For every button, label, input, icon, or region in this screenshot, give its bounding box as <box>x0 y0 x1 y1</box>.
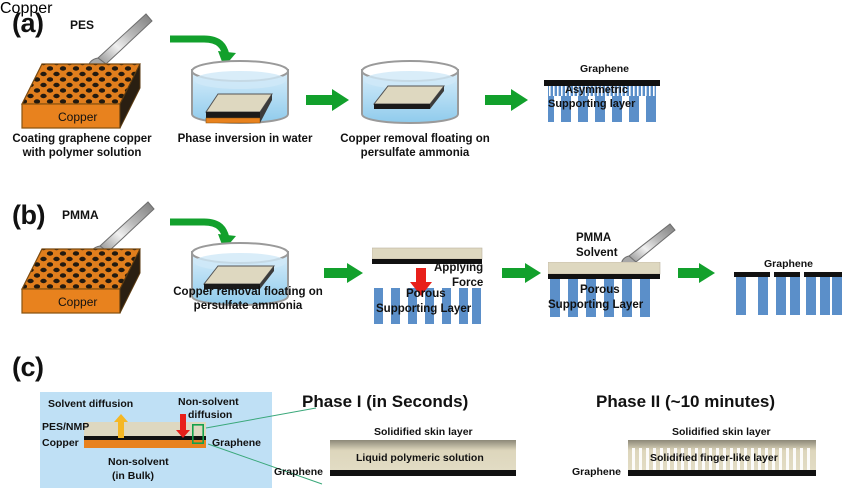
phase1-title: Phase I (in Seconds) <box>302 392 468 412</box>
phase2-title: Phase II (~10 minutes) <box>596 392 775 412</box>
graphene-label-b: Graphene <box>764 258 813 270</box>
red-arrow-icon <box>176 414 190 443</box>
green-arrow-icon <box>324 262 364 289</box>
caption-a-2: Phase inversion in water <box>170 132 320 146</box>
svg-text:Copper: Copper <box>58 295 97 309</box>
solvent-diffusion-label: Solvent diffusion <box>48 398 133 410</box>
porous-supporting-layer-step <box>548 262 662 331</box>
porous-label-b1-1: Porous <box>406 288 446 300</box>
phase2-body-label: Solidified finger-like layer <box>650 452 778 464</box>
green-arrow-icon <box>306 88 350 117</box>
graphene-label-a: Graphene <box>580 63 629 75</box>
nonsolvent-diffusion-label-1: Non-solvent <box>178 396 239 408</box>
caption-a-1: Coating graphene copper with polymer sol… <box>2 132 162 161</box>
slab-label-a: Copper <box>58 110 97 124</box>
panel-c-label: (c) <box>12 352 44 383</box>
phase1-body-label: Liquid polymeric solution <box>356 452 484 464</box>
copper-layer-label: Copper <box>42 437 79 449</box>
green-arrow-icon <box>485 88 529 117</box>
yellow-arrow-icon <box>114 414 128 443</box>
porous-label-b1-2: Supporting Layer <box>376 303 471 315</box>
applying-force-label-1: Applying <box>434 262 483 274</box>
petri-dish-water <box>184 58 296 143</box>
caption-b-1: Copper removal floating on persulfate am… <box>158 285 338 314</box>
nonsolvent-diffusion-label-2: diffusion <box>188 409 232 421</box>
porous-label-b2-1: Porous <box>580 284 620 296</box>
asymmetric-label-1: Asymmetric <box>565 84 628 96</box>
asymmetric-label-2: Supporting layer <box>548 98 635 110</box>
graphene-label-c: Graphene <box>212 437 261 449</box>
highlight-box-icon <box>192 424 204 449</box>
phase2-skin-label: Solidified skin layer <box>672 426 771 438</box>
phase2-graphene-label: Graphene <box>572 466 621 478</box>
nonsolvent-bulk-label-1: Non-solvent <box>108 456 169 468</box>
petri-dish-persulfate <box>354 58 466 143</box>
nonsolvent-bulk-label-2: (in Bulk) <box>112 470 154 482</box>
copper-slab-graphene: Copper <box>14 60 150 140</box>
copper-slab-graphene: Copper <box>14 245 150 325</box>
panel-b-label: (b) <box>12 200 45 231</box>
caption-a-3: Copper removal floating on persulfate am… <box>330 132 500 161</box>
green-arrow-icon <box>502 262 542 289</box>
pmma-solvent-label-2: Solvent <box>576 247 618 259</box>
pmma-solvent-label-1: PMMA <box>576 232 611 244</box>
applying-force-label-2: Force <box>452 277 483 289</box>
pes-nmp-label: PES/NMP <box>42 421 89 433</box>
phase1-skin-label: Solidified skin layer <box>374 426 473 438</box>
green-arrow-icon <box>678 262 716 289</box>
phase1-graphene-label: Graphene <box>274 466 323 478</box>
graphene-on-pillars <box>732 272 844 333</box>
porous-label-b2-2: Supporting Layer <box>548 299 643 311</box>
